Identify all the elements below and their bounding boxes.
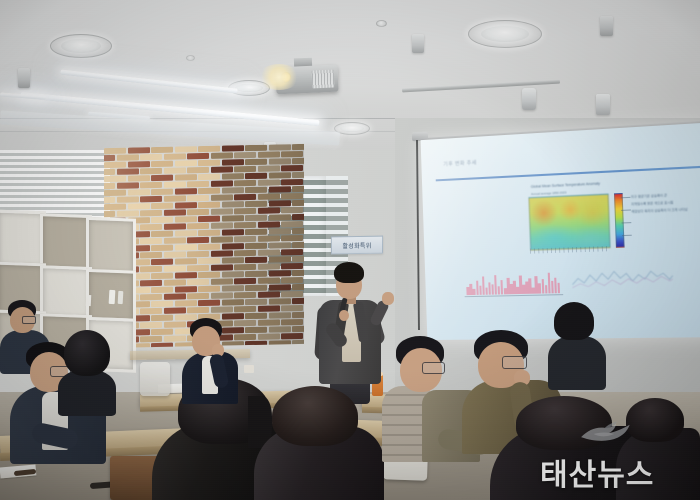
- brick: [128, 161, 150, 167]
- brick: [281, 249, 303, 255]
- brick: [234, 208, 256, 214]
- slide-note-line: 해양보다 육지의 상승폭이 더 크게 나타남: [631, 207, 700, 216]
- brick: [222, 201, 244, 207]
- brick: [164, 293, 186, 299]
- brick: [151, 161, 173, 167]
- desk-item: [244, 365, 254, 373]
- brick: [269, 326, 291, 332]
- brick: [281, 235, 303, 241]
- brick: [234, 194, 256, 200]
- brick: [164, 251, 186, 257]
- brick: [258, 165, 280, 171]
- brick: [164, 181, 186, 187]
- brick: [258, 235, 280, 241]
- brick: [211, 222, 233, 228]
- brick: [258, 221, 280, 227]
- shelf-cube: [40, 213, 92, 273]
- brick: [211, 180, 233, 186]
- recessed-downlight-icon: [468, 20, 542, 48]
- brick: [211, 152, 233, 158]
- brick: [175, 202, 197, 208]
- brick: [211, 236, 233, 242]
- brick: [234, 180, 256, 186]
- brick: [175, 160, 197, 166]
- brick: [258, 193, 280, 199]
- brick: [104, 176, 126, 182]
- brick: [281, 319, 303, 325]
- brick: [292, 228, 304, 234]
- brick: [140, 182, 162, 188]
- projector-vent: [312, 70, 335, 89]
- brick: [104, 197, 115, 203]
- brick: [151, 217, 173, 223]
- brick: [104, 148, 126, 154]
- brick: [234, 278, 256, 284]
- brick: [187, 307, 209, 313]
- brick: [164, 195, 186, 201]
- brick: [245, 229, 267, 235]
- brick: [258, 151, 280, 157]
- brick: [222, 285, 244, 291]
- brick: [198, 272, 220, 278]
- brick: [198, 258, 220, 264]
- brick: [117, 154, 139, 160]
- brick: [222, 243, 244, 249]
- brick: [175, 258, 197, 264]
- watermark: 태산뉴스: [540, 440, 696, 484]
- brick: [211, 194, 233, 200]
- brick: [269, 256, 291, 262]
- attendee-left-dark: [58, 330, 118, 408]
- brick: [269, 144, 291, 150]
- brick: [117, 196, 139, 202]
- brick: [164, 167, 186, 173]
- brick: [164, 223, 186, 229]
- photo-scene: 기후 변화 추세 Global Mean Surface Temperature…: [0, 0, 700, 500]
- brick: [234, 250, 256, 256]
- brick: [175, 300, 197, 306]
- brick: [175, 244, 197, 250]
- brick: [211, 292, 233, 298]
- brick: [140, 266, 162, 272]
- watermark-text: 태산뉴스: [540, 450, 654, 494]
- brick: [164, 237, 186, 243]
- brick: [245, 145, 267, 151]
- brick: [245, 173, 267, 179]
- brick: [198, 216, 220, 222]
- brick: [222, 145, 244, 151]
- brick: [258, 179, 280, 185]
- brick: [104, 169, 115, 175]
- brick: [198, 146, 220, 152]
- brick: [211, 250, 233, 256]
- brick: [128, 147, 150, 153]
- brick: [198, 188, 220, 194]
- brick: [187, 181, 209, 187]
- colorbar-tick: [620, 197, 630, 198]
- brick: [234, 222, 256, 228]
- brick: [140, 280, 162, 286]
- brick: [151, 203, 173, 209]
- brick: [292, 186, 304, 192]
- brick: [292, 172, 304, 178]
- recessed-downlight-icon: [50, 34, 112, 58]
- brick: [198, 286, 220, 292]
- brick: [292, 312, 304, 318]
- colorbar-tick: [621, 222, 631, 223]
- brick: [269, 270, 291, 276]
- brick: [175, 230, 197, 236]
- brick: [258, 333, 280, 339]
- brick: [281, 179, 303, 185]
- presenter-hair: [334, 262, 364, 283]
- brick: [245, 327, 267, 333]
- slide-bar-chart: [466, 272, 560, 295]
- brick: [281, 221, 303, 227]
- brick: [151, 329, 173, 335]
- brick: [281, 207, 303, 213]
- heatmap-colorbar: [614, 193, 624, 248]
- heatmap-x-axis: [530, 246, 609, 254]
- brick: [151, 301, 173, 307]
- brick: [151, 315, 173, 321]
- brick: [164, 153, 186, 159]
- brick: [292, 256, 304, 262]
- brick: [245, 201, 267, 207]
- eyeglasses: [22, 316, 36, 324]
- presenter-hand-right: [382, 292, 394, 305]
- brick: [222, 229, 244, 235]
- eyeglasses: [422, 362, 445, 374]
- brick: [258, 277, 280, 283]
- brick: [245, 313, 267, 319]
- brick: [151, 259, 173, 265]
- attendee-suit-middle: [182, 318, 244, 400]
- brick: [234, 306, 256, 312]
- brick: [292, 144, 304, 150]
- brick: [222, 215, 244, 221]
- brick: [234, 236, 256, 242]
- brick: [164, 265, 186, 271]
- brick: [164, 279, 186, 285]
- brick: [211, 306, 233, 312]
- smoke-detector-icon: [186, 55, 195, 61]
- brick: [198, 202, 220, 208]
- slide-notes: 지구 평균기온 상승폭이 큰 지역일수록 붉은 색으로 표시됨 해양보다 육지의…: [631, 191, 700, 217]
- brick: [234, 166, 256, 172]
- brick: [198, 174, 220, 180]
- slide-divider: [436, 166, 700, 181]
- brick: [211, 278, 233, 284]
- brick: [117, 182, 139, 188]
- brick: [222, 299, 244, 305]
- brick: [258, 249, 280, 255]
- brick: [198, 160, 220, 166]
- brick: [140, 154, 162, 160]
- brick: [198, 230, 220, 236]
- brick: [175, 216, 197, 222]
- brick: [211, 166, 233, 172]
- shelf-item: [109, 290, 116, 304]
- attendee-right-edge: [548, 302, 610, 388]
- brick: [151, 147, 173, 153]
- attendee-front-center: [254, 386, 384, 500]
- brick: [292, 326, 304, 332]
- brick: [245, 215, 267, 221]
- brick: [187, 223, 209, 229]
- brick: [187, 153, 209, 159]
- brick: [140, 238, 162, 244]
- brick: [281, 165, 303, 171]
- brick: [292, 200, 304, 206]
- brick: [292, 298, 304, 304]
- brick: [245, 243, 267, 249]
- projector-light-glow: [258, 64, 300, 90]
- brick: [104, 162, 126, 168]
- heatmap-title: Global Mean Surface Temperature Anomaly: [531, 181, 600, 188]
- brick: [140, 210, 162, 216]
- brick: [281, 291, 303, 297]
- brick: [187, 279, 209, 285]
- brick: [258, 291, 280, 297]
- brick: [269, 186, 291, 192]
- brick: [140, 168, 162, 174]
- eagle-emblem-icon: [578, 420, 640, 446]
- brick: [281, 277, 303, 283]
- brick: [140, 196, 162, 202]
- brick: [269, 158, 291, 164]
- brick: [140, 308, 162, 314]
- brick: [140, 322, 162, 328]
- brick: [198, 244, 220, 250]
- colorbar-tick: [622, 235, 632, 236]
- brick: [104, 183, 115, 189]
- brick: [117, 168, 139, 174]
- brick: [128, 189, 150, 195]
- brick: [104, 204, 126, 210]
- brick: [222, 187, 244, 193]
- brick: [187, 251, 209, 257]
- brick: [151, 175, 173, 181]
- track-spotlight-icon: [522, 88, 536, 110]
- eyeglasses: [502, 356, 527, 369]
- brick: [245, 159, 267, 165]
- brick: [140, 336, 162, 342]
- brick: [281, 193, 303, 199]
- colorbar-tick: [621, 209, 631, 210]
- brick: [140, 252, 162, 258]
- brick: [187, 195, 209, 201]
- brick: [151, 189, 173, 195]
- brick: [128, 175, 150, 181]
- brick: [187, 209, 209, 215]
- brick: [292, 214, 304, 220]
- brick: [175, 272, 197, 278]
- brick: [151, 287, 173, 293]
- brick: [245, 187, 267, 193]
- shelf-cube: [86, 217, 136, 277]
- brick: [187, 167, 209, 173]
- brick: [187, 237, 209, 243]
- brick: [164, 209, 186, 215]
- brick: [269, 284, 291, 290]
- track-spotlight-icon: [18, 68, 30, 88]
- presenter-hand-left: [339, 310, 349, 321]
- brick: [258, 207, 280, 213]
- brick: [222, 159, 244, 165]
- brick: [175, 146, 197, 152]
- brick: [175, 174, 197, 180]
- track-spotlight-icon: [600, 16, 613, 36]
- brick: [175, 188, 197, 194]
- slide-title: 기후 변화 추세: [443, 159, 477, 168]
- brick: [281, 305, 303, 311]
- brick: [140, 224, 162, 230]
- brick: [245, 257, 267, 263]
- brick: [245, 299, 267, 305]
- brick: [211, 264, 233, 270]
- brick: [222, 257, 244, 263]
- brick: [234, 292, 256, 298]
- brick: [151, 231, 173, 237]
- slide-line-chart: [571, 265, 673, 291]
- brick: [292, 284, 304, 290]
- brick: [281, 263, 303, 269]
- brick: [222, 271, 244, 277]
- brick: [245, 285, 267, 291]
- brick: [187, 293, 209, 299]
- brick: [292, 270, 304, 276]
- world-temperature-heatmap: [528, 194, 611, 251]
- brick: [140, 294, 162, 300]
- brick: [269, 242, 291, 248]
- smoke-detector-icon: [376, 20, 387, 27]
- brick: [269, 228, 291, 234]
- brick: [222, 173, 244, 179]
- brick: [269, 312, 291, 318]
- brick: [198, 300, 220, 306]
- wall-sign-label: 활성화특위: [342, 240, 371, 250]
- brick: [164, 307, 186, 313]
- brick: [269, 214, 291, 220]
- brick: [258, 263, 280, 269]
- brick: [269, 298, 291, 304]
- shelf-item: [118, 291, 124, 304]
- brick: [187, 265, 209, 271]
- brick: [292, 242, 304, 248]
- wall-sign: 활성화특위: [331, 236, 383, 255]
- brick: [245, 271, 267, 277]
- brick: [104, 190, 126, 196]
- brick: [234, 152, 256, 158]
- brick: [269, 172, 291, 178]
- track-spotlight-icon: [412, 34, 424, 53]
- brick: [292, 158, 304, 164]
- brick: [234, 264, 256, 270]
- track-spotlight-icon: [596, 94, 610, 115]
- brick: [175, 286, 197, 292]
- brick: [211, 208, 233, 214]
- brick: [151, 245, 173, 251]
- brick: [258, 319, 280, 325]
- brick: [128, 203, 150, 209]
- brick: [104, 155, 115, 161]
- shelf-item: [86, 295, 92, 306]
- brick: [269, 200, 291, 206]
- brick: [258, 305, 280, 311]
- brick: [281, 151, 303, 157]
- brick: [151, 273, 173, 279]
- brick: [281, 333, 303, 339]
